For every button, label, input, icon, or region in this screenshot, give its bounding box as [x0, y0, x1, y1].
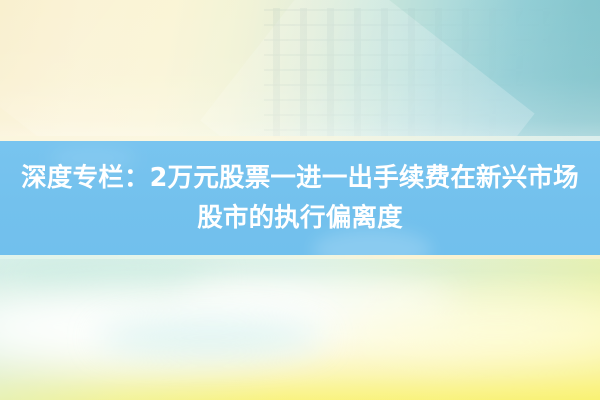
top-gradient-background [0, 0, 600, 141]
banner-title: 深度专栏：2万元股票一进一出手续费在新兴市场 股市的执行偏离度 [8, 158, 592, 238]
article-banner: 深度专栏：2万元股票一进一出手续费在新兴市场 股市的执行偏离度 [0, 0, 600, 400]
bottom-gradient-background [0, 255, 600, 400]
bottom-band-seam [0, 255, 600, 259]
bottom-cloud-top-left [12, 258, 216, 296]
title-band: 深度专栏：2万元股票一进一出手续费在新兴市场 股市的执行偏离度 [0, 141, 600, 255]
top-vertical-haze [0, 0, 600, 141]
